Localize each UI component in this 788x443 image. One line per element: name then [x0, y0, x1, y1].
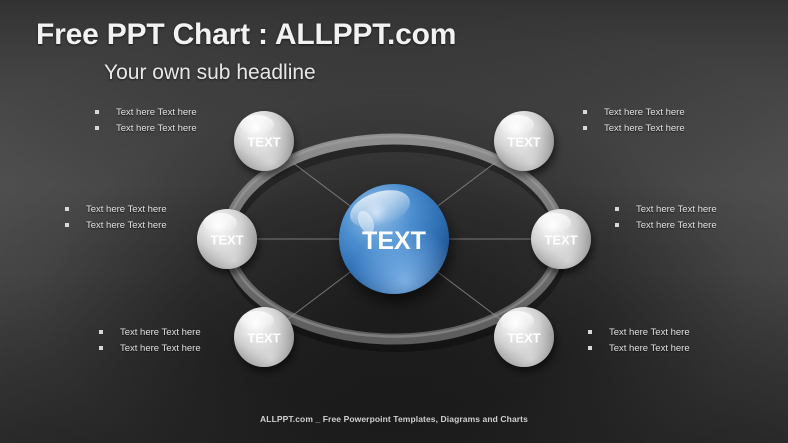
- bullet-text: Text here Text here: [636, 219, 717, 232]
- bullet-text: Text here Text here: [120, 342, 201, 355]
- bullet-row: Text here Text here: [65, 219, 250, 232]
- bullet-square-icon: [583, 110, 587, 114]
- bullet-row: Text here Text here: [65, 203, 250, 216]
- text-block-middle-left: Text here Text here Text here Text here: [65, 203, 250, 235]
- footer-credit: ALLPPT.com _ Free Powerpoint Templates, …: [0, 414, 788, 424]
- node-label: TEXT: [544, 233, 577, 248]
- bullet-text: Text here Text here: [609, 326, 690, 339]
- bullet-text: Text here Text here: [604, 122, 685, 135]
- bullet-square-icon: [588, 346, 592, 350]
- node-label: TEXT: [507, 135, 540, 150]
- bullet-row: Text here Text here: [95, 106, 280, 119]
- bullet-square-icon: [615, 207, 619, 211]
- bullet-text: Text here Text here: [86, 203, 167, 216]
- bullet-row: Text here Text here: [588, 326, 773, 339]
- bullet-row: Text here Text here: [615, 219, 788, 232]
- bullet-text: Text here Text here: [609, 342, 690, 355]
- text-block-bottom-left: Text here Text here Text here Text here: [99, 326, 284, 358]
- text-block-middle-right: Text here Text here Text here Text here: [615, 203, 788, 235]
- bullet-square-icon: [65, 207, 69, 211]
- text-block-top-right: Text here Text here Text here Text here: [583, 106, 768, 138]
- bullet-row: Text here Text here: [615, 203, 788, 216]
- bullet-text: Text here Text here: [116, 106, 197, 119]
- node-bottom-right[interactable]: TEXT: [494, 307, 554, 367]
- bullet-row: Text here Text here: [99, 342, 284, 355]
- bullet-square-icon: [95, 126, 99, 130]
- bullet-row: Text here Text here: [583, 122, 768, 135]
- bullet-text: Text here Text here: [86, 219, 167, 232]
- center-node-label: TEXT: [362, 227, 426, 255]
- bullet-square-icon: [99, 330, 103, 334]
- bullet-row: Text here Text here: [99, 326, 284, 339]
- bullet-text: Text here Text here: [604, 106, 685, 119]
- bullet-row: Text here Text here: [95, 122, 280, 135]
- node-middle-right[interactable]: TEXT: [531, 209, 591, 269]
- center-node[interactable]: TEXT: [339, 183, 449, 294]
- bullet-row: Text here Text here: [588, 342, 773, 355]
- bullet-text: Text here Text here: [120, 326, 201, 339]
- node-label: TEXT: [507, 331, 540, 346]
- bullet-square-icon: [65, 223, 69, 227]
- bullet-text: Text here Text here: [116, 122, 197, 135]
- bullet-text: Text here Text here: [636, 203, 717, 216]
- bullet-square-icon: [615, 223, 619, 227]
- slide-canvas: Free PPT Chart : ALLPPT.com Your own sub…: [0, 0, 788, 443]
- node-top-right[interactable]: TEXT: [494, 111, 554, 171]
- bullet-square-icon: [583, 126, 587, 130]
- text-block-bottom-right: Text here Text here Text here Text here: [588, 326, 773, 358]
- bullet-square-icon: [95, 110, 99, 114]
- bullet-square-icon: [99, 346, 103, 350]
- bullet-square-icon: [588, 330, 592, 334]
- bullet-row: Text here Text here: [583, 106, 768, 119]
- text-block-top-left: Text here Text here Text here Text here: [95, 106, 280, 138]
